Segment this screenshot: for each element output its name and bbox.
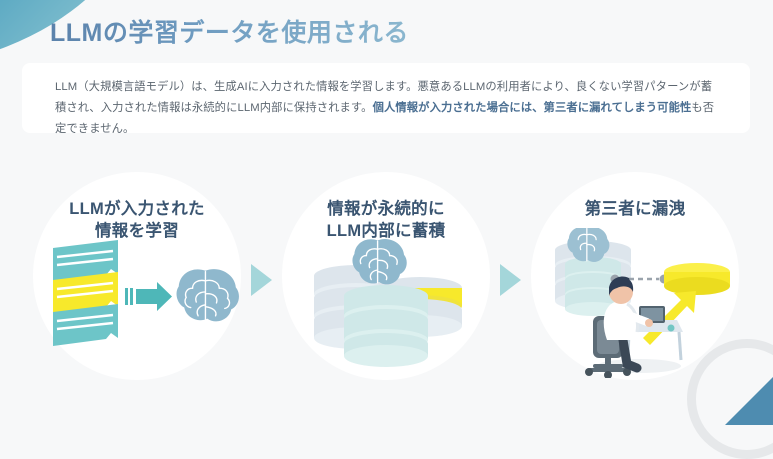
panel-learn: LLMが入力された 情報を学習 — [33, 172, 241, 380]
brain-icon — [177, 269, 239, 321]
arrow-right-icon — [125, 282, 172, 311]
panel-leak: 第三者に漏洩 — [531, 172, 739, 380]
panel-store: 情報が永続的に LLM内部に蓄積 — [282, 172, 490, 380]
intro-text-emphasis: 個人情報が入力された場合には、第三者に漏れてしまう可能性 — [373, 102, 692, 114]
page-title: LLMの学習データを使用される — [50, 13, 409, 49]
database-front-icon — [344, 285, 428, 367]
connector-2 — [500, 264, 521, 296]
documents-icon — [53, 240, 118, 346]
panel-learn-artwork — [33, 228, 241, 378]
panel-store-title-line1: 情報が永続的に — [327, 200, 445, 218]
bottom-right-triangle-decoration — [725, 377, 773, 425]
panel-learn-title-line1: LLMが入力された — [69, 200, 205, 218]
intro-card: LLM（大規模言語モデル）は、生成AIに入力された情報を学習します。悪意あるLL… — [22, 63, 750, 133]
panel-leak-title-line1: 第三者に漏洩 — [585, 200, 686, 218]
yellow-disk-icon — [664, 263, 730, 295]
intro-paragraph: LLM（大規模言語モデル）は、生成AIに入力された情報を学習します。悪意あるLL… — [55, 77, 723, 140]
panel-leak-title: 第三者に漏洩 — [531, 198, 739, 220]
panel-leak-artwork — [531, 228, 739, 378]
panel-store-artwork — [282, 228, 490, 378]
connector-1 — [251, 264, 272, 296]
